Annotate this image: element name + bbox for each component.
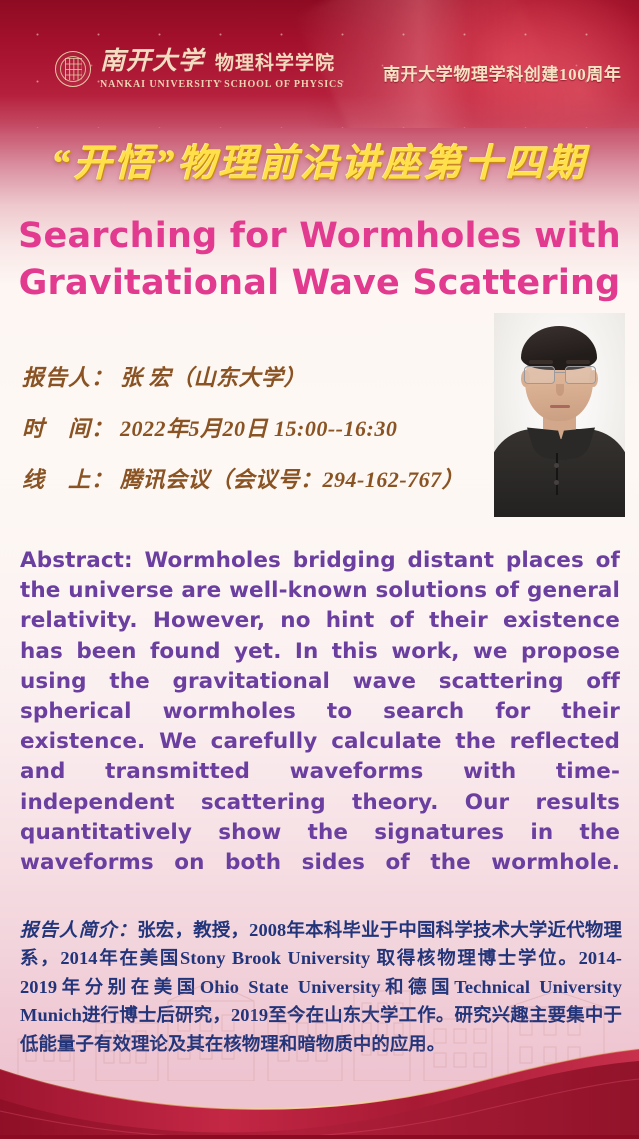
photo-lens-right bbox=[565, 366, 596, 384]
school-name-cn: 物理科学学院 bbox=[215, 54, 335, 73]
talk-title: Searching for Wormholes with Gravitation… bbox=[18, 213, 621, 307]
logo-text-column: 南开大学 物理科学学院 NANKAI UNIVERSITY SCHOOL OF … bbox=[100, 49, 344, 90]
photo-eyebrow-left bbox=[529, 360, 553, 364]
photo-eyebrow-right bbox=[566, 360, 590, 364]
nankai-seal-icon bbox=[55, 51, 91, 87]
abstract-text: Abstract: Wormholes bridging distant pla… bbox=[20, 546, 620, 908]
info-row-online: 线 上： 腾讯会议（会议号：294-162-767） bbox=[22, 462, 492, 494]
seminar-poster: 南开大学 物理科学学院 NANKAI UNIVERSITY SCHOOL OF … bbox=[0, 0, 639, 1139]
info-value-online: 腾讯会议（会议号：294-162-767） bbox=[120, 462, 464, 494]
info-value-time: 2022年5月20日 15:00--16:30 bbox=[120, 411, 397, 443]
bottom-ribbon-decoration bbox=[0, 1047, 639, 1139]
photo-glasses-bridge bbox=[554, 372, 565, 373]
event-info-block: 报告人： 张 宏（山东大学） 时 间： 2022年5月20日 15:00--16… bbox=[22, 360, 492, 513]
info-row-speaker: 报告人： 张 宏（山东大学） bbox=[22, 360, 492, 392]
info-label-time: 时 间： bbox=[22, 411, 114, 443]
bio-body: 张宏，教授，2008年本科毕业于中国科学技术大学近代物理系，2014年在美国St… bbox=[20, 920, 622, 1054]
photo-shirt-placket bbox=[556, 453, 558, 495]
info-label-online: 线 上： bbox=[22, 462, 114, 494]
university-logo-lockup: 南开大学 物理科学学院 NANKAI UNIVERSITY SCHOOL OF … bbox=[55, 49, 344, 90]
photo-nose bbox=[556, 384, 564, 396]
lecture-series-title: “开悟”物理前沿讲座第十四期 bbox=[0, 132, 639, 187]
photo-glasses bbox=[522, 366, 597, 383]
photo-shirt-button-bottom bbox=[554, 480, 559, 485]
bio-heading: 报告人简介： bbox=[20, 920, 137, 940]
university-name-cn: 南开大学 bbox=[100, 49, 204, 74]
speaker-bio: 报告人简介：张宏，教授，2008年本科毕业于中国科学技术大学近代物理系，2014… bbox=[20, 916, 622, 1058]
info-label-speaker: 报告人： bbox=[22, 360, 114, 392]
info-value-speaker: 张 宏（山东大学） bbox=[120, 360, 306, 392]
logo-chinese-row: 南开大学 物理科学学院 bbox=[100, 49, 344, 74]
anniversary-slogan: 南开大学物理学科创建100周年 bbox=[383, 60, 622, 85]
photo-shirt-button-top bbox=[554, 463, 559, 468]
speaker-photo bbox=[494, 313, 625, 517]
university-name-en: NANKAI UNIVERSITY SCHOOL OF PHYSICS bbox=[100, 79, 344, 90]
photo-mouth bbox=[550, 405, 570, 408]
photo-lens-left bbox=[524, 366, 555, 384]
info-row-time: 时 间： 2022年5月20日 15:00--16:30 bbox=[22, 411, 492, 443]
